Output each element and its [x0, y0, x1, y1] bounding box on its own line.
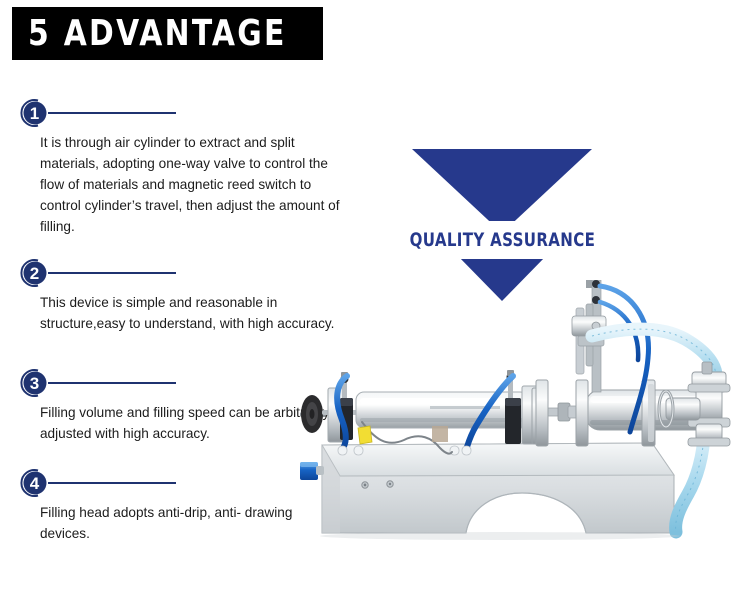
advantage-text-1: It is through air cylinder to extract an…	[16, 132, 346, 237]
product-image-filling-machine	[300, 280, 750, 595]
advantage-item-3: 3 Filling volume and filling speed can b…	[16, 368, 346, 444]
advantage-item-1: 1 It is through air cylinder to extract …	[16, 98, 346, 237]
advantage-text-3: Filling volume and filling speed can be …	[16, 402, 346, 444]
handwheel	[300, 395, 326, 433]
number-badge-icon-4	[16, 468, 50, 498]
advantage-text-4: Filling head adopts anti-drip, anti- dra…	[16, 502, 346, 544]
blue-knob	[300, 462, 324, 480]
advantage-head-1: 1	[16, 98, 346, 128]
number-badge-icon-1	[16, 98, 50, 128]
advantage-item-2: 2 This device is simple and reasonable i…	[16, 258, 346, 334]
number-badge-icon-2	[16, 258, 50, 288]
page-title-banner: 5 ADVANTAGE	[12, 7, 323, 60]
advantage-head-3: 3	[16, 368, 346, 398]
valve-body	[659, 362, 730, 446]
advantage-head-4: 4	[16, 468, 346, 498]
advantage-rule-1	[48, 112, 176, 114]
quality-assurance-label: QUALITY ASSURANCE	[409, 231, 595, 250]
quality-assurance-badge: QUALITY ASSURANCE	[412, 149, 592, 301]
advantage-rule-2	[48, 272, 176, 274]
page-title: 5 ADVANTAGE	[28, 16, 287, 52]
advantage-text-2: This device is simple and reasonable in …	[16, 292, 346, 334]
advantage-page: 5 ADVANTAGE 1 It is through air cylinder…	[0, 0, 750, 595]
number-badge-icon-3	[16, 368, 50, 398]
advantage-head-2: 2	[16, 258, 346, 288]
quality-assurance-band: QUALITY ASSURANCE	[400, 221, 604, 259]
advantage-rule-3	[48, 382, 176, 384]
advantage-item-4: 4 Filling head adopts anti-drip, anti- d…	[16, 468, 346, 544]
advantage-rule-4	[48, 482, 176, 484]
